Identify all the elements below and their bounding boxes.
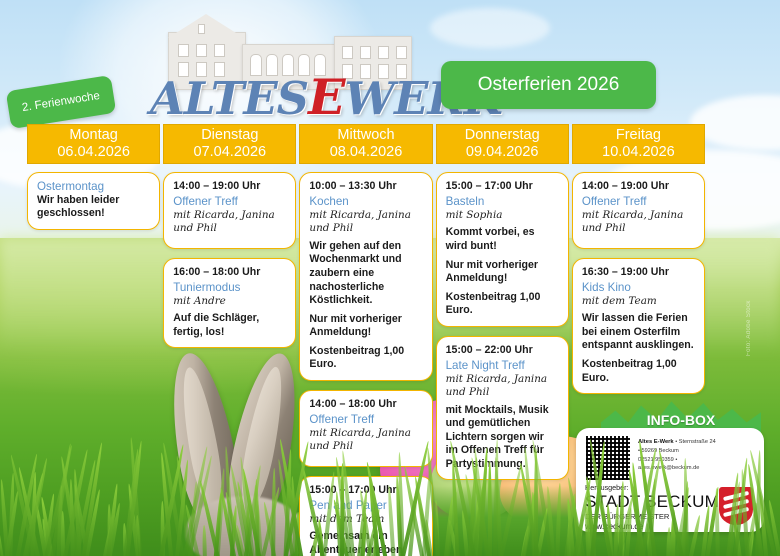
address-line-1: Altes E-Werk • Sternstraße 24 — [638, 438, 716, 447]
event-description: Kommt vorbei, es wird bunt! — [446, 226, 559, 253]
day-date: 08.04.2026 — [330, 144, 403, 161]
event-title: Late Night Treff — [446, 359, 559, 373]
event-description: mit Mocktails, Musik und gemütlichen Lic… — [446, 404, 559, 472]
logo-window — [396, 46, 407, 59]
address-org: Altes E-Werk — [638, 439, 674, 445]
event-time: 16:30 – 19:00 Uhr — [582, 266, 695, 278]
day-date: 10.04.2026 — [602, 144, 675, 161]
day-date: 06.04.2026 — [57, 144, 130, 161]
day-header-cell-1: Dienstag07.04.2026 — [163, 124, 296, 164]
day-name: Freitag — [616, 127, 661, 144]
event-card: 10:00 – 13:30 UhrKochenmit Ricarda, Jani… — [299, 172, 432, 381]
altes-e-werk-logo: ALTESEWERK — [150, 6, 432, 126]
event-description: Kostenbeitrag 1,00 Euro. — [582, 358, 695, 385]
day-header-cell-4: Freitag10.04.2026 — [572, 124, 705, 164]
address-line-3: 02521 950359 • — [638, 456, 716, 465]
event-card: 14:00 – 18:00 UhrOffener Treffmit Ricard… — [299, 390, 432, 467]
day-name: Dienstag — [201, 127, 258, 144]
cloud — [430, 8, 550, 48]
event-card: 16:30 – 19:00 UhrKids Kinomit dem TeamWi… — [572, 258, 705, 394]
event-card: OstermontagWir haben leider geschlossen! — [27, 172, 160, 230]
day-name: Mittwoch — [337, 127, 394, 144]
info-box-top: Altes E-Werk • Sternstraße 24 • 59269 Be… — [585, 435, 755, 481]
event-time: 10:00 – 13:30 Uhr — [309, 180, 422, 192]
logo-window — [360, 46, 371, 59]
event-title: Offener Treff — [309, 413, 422, 427]
day-date: 07.04.2026 — [194, 144, 267, 161]
logo-wordmark: ALTESEWERK — [150, 68, 432, 126]
event-title: Kochen — [309, 195, 422, 209]
title-badge-label: Osterferien 2026 — [478, 74, 620, 96]
event-title: Offener Treff — [582, 195, 695, 209]
photo-credit-watermark: Foto: Adobe Stock — [746, 246, 760, 356]
logo-word-e: E — [308, 68, 344, 126]
event-staff: mit Ricarda, Janina und Phil — [173, 209, 286, 236]
event-card: 14:00 – 19:00 UhrOffener Treffmit Ricard… — [163, 172, 296, 249]
day-date: 09.04.2026 — [466, 144, 539, 161]
day-name: Donnerstag — [465, 127, 540, 144]
logo-window — [378, 46, 389, 59]
logo-window — [196, 44, 207, 57]
event-description: Kostenbeitrag 1,00 Euro. — [309, 345, 422, 372]
event-card: 15:00 – 17:00 UhrBastelnmit SophiaKommt … — [436, 172, 569, 327]
day-header-row: Montag06.04.2026Dienstag07.04.2026Mittwo… — [27, 124, 705, 164]
event-staff: mit Ricarda, Janina und Phil — [309, 427, 422, 454]
day-name: Montag — [69, 127, 117, 144]
event-time: 14:00 – 19:00 Uhr — [173, 180, 286, 192]
logo-window — [214, 44, 225, 57]
event-time: 14:00 – 18:00 Uhr — [309, 398, 422, 410]
day-header-cell-3: Donnerstag09.04.2026 — [436, 124, 569, 164]
logo-window — [342, 46, 353, 59]
address-line-2: • 59269 Beckum — [638, 447, 716, 456]
logo-word-altes: ALTES — [150, 72, 308, 125]
event-description: Auf die Schläger, fertig, los! — [173, 312, 286, 339]
event-description: Nur mit vorheriger Anmeldung! — [446, 259, 559, 286]
event-title: Basteln — [446, 195, 559, 209]
event-description: Wir gehen auf den Wochenmarkt und zauber… — [309, 240, 422, 308]
logo-window — [178, 44, 189, 57]
event-card: 14:00 – 19:00 UhrOffener Treffmit Ricard… — [572, 172, 705, 249]
day-header-cell-2: Mittwoch08.04.2026 — [299, 124, 432, 164]
event-staff: mit Ricarda, Janina und Phil — [582, 209, 695, 236]
event-staff: mit Ricarda, Janina und Phil — [446, 373, 559, 400]
info-box-label: INFO-BOX — [601, 412, 761, 428]
poster-canvas: Foto: Adobe Stock ALTESEWERK — [0, 0, 780, 556]
event-time: 15:00 – 17:00 Uhr — [446, 180, 559, 192]
event-staff: mit Andre — [173, 295, 286, 309]
event-time: 15:00 – 22:00 Uhr — [446, 344, 559, 356]
event-time: 16:00 – 18:00 Uhr — [173, 266, 286, 278]
event-description: Kostenbeitrag 1,00 Euro. — [446, 291, 559, 318]
event-card: 16:00 – 18:00 UhrTuniermodusmit AndreAuf… — [163, 258, 296, 349]
logo-building-left-roof — [168, 14, 244, 38]
event-title: Tuniermodus — [173, 281, 286, 295]
event-title: Ostermontag — [37, 180, 150, 194]
event-title: Kids Kino — [582, 281, 695, 295]
address-street: • Sternstraße 24 — [674, 439, 716, 445]
event-title: Offener Treff — [173, 195, 286, 209]
event-staff: mit dem Team — [582, 295, 695, 309]
event-description: Nur mit vorheriger Anmeldung! — [309, 313, 422, 340]
day-header-cell-0: Montag06.04.2026 — [27, 124, 160, 164]
title-badge: Osterferien 2026 — [441, 61, 656, 109]
event-description: Wir lassen die Ferien bei einem Osterfil… — [582, 312, 695, 353]
week-badge-label: 2. Ferienwoche — [21, 90, 101, 114]
event-time: 14:00 – 19:00 Uhr — [582, 180, 695, 192]
event-staff: mit Sophia — [446, 209, 559, 223]
logo-window — [198, 24, 205, 34]
event-staff: mit Ricarda, Janina und Phil — [309, 209, 422, 236]
event-description: Wir haben leider geschlossen! — [37, 194, 150, 221]
